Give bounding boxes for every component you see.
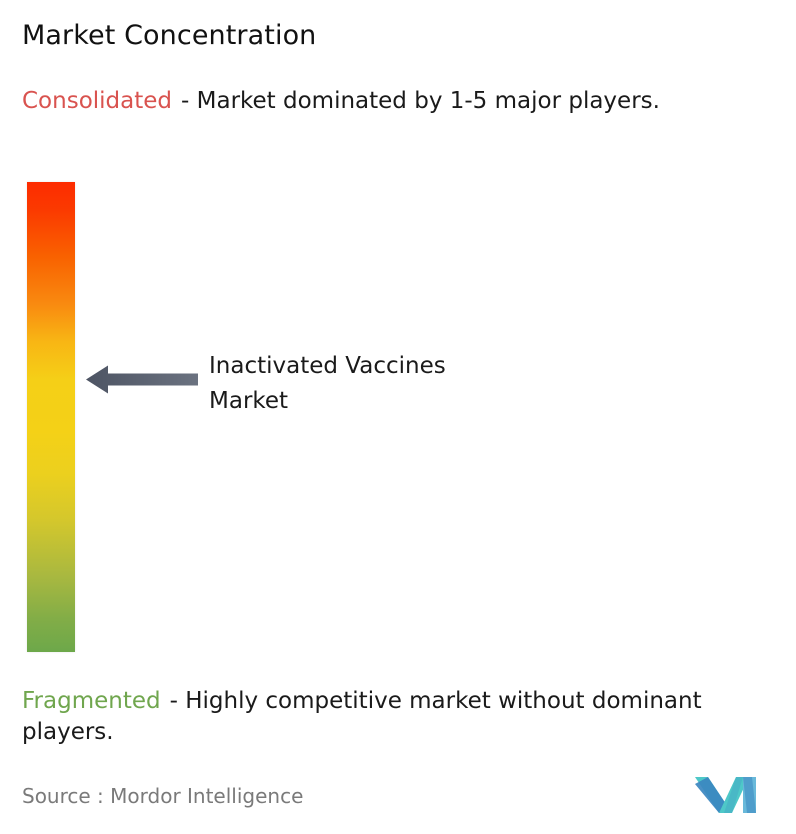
mordor-intelligence-logo-icon <box>694 770 766 820</box>
market-concentration-chart: Market Concentration Consolidated- Marke… <box>0 0 796 834</box>
left-arrow-icon <box>86 364 198 395</box>
page-title: Market Concentration <box>22 19 316 53</box>
consolidated-caption: Consolidated- Market dominated by 1-5 ma… <box>22 86 778 117</box>
source-note: Source : Mordor Intelligence <box>22 783 303 809</box>
consolidated-description: - Market dominated by 1-5 major players. <box>181 88 660 114</box>
consolidated-keyword: Consolidated <box>22 88 172 114</box>
fragmented-keyword: Fragmented <box>22 688 161 714</box>
market-pointer-label: Inactivated Vaccines Market <box>209 349 446 419</box>
fragmented-caption: Fragmented- Highly competitive market wi… <box>22 686 786 748</box>
concentration-gradient-bar <box>27 182 75 652</box>
